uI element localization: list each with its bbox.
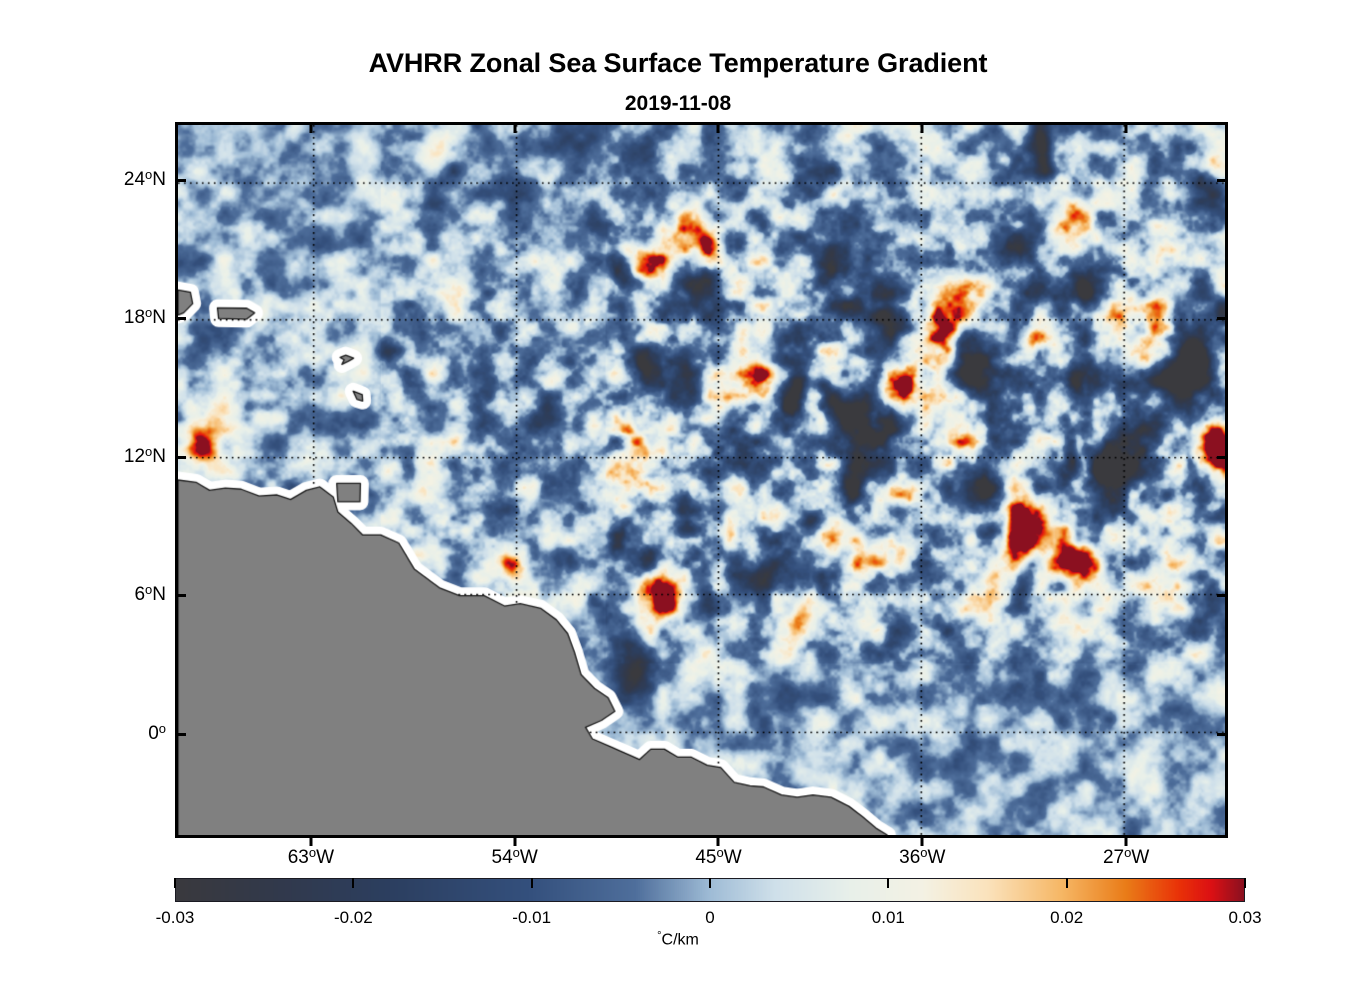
xtick-label: 36oW — [899, 845, 945, 869]
xtick-mark — [921, 835, 924, 846]
colorbar-tick-label: -0.02 — [334, 908, 373, 928]
figure-subtitle: 2019-11-08 — [0, 92, 1356, 116]
colorbar-tick-mark — [887, 878, 889, 888]
xtick-mark — [717, 122, 720, 133]
ytick-mark — [175, 594, 186, 597]
xtick-label: 63oW — [288, 845, 334, 869]
colorbar-tick-label: 0.01 — [872, 908, 905, 928]
ytick-label: 6oN — [134, 582, 166, 606]
xtick-label: 54oW — [492, 845, 538, 869]
page-title: AVHRR Zonal Sea Surface Temperature Grad… — [0, 48, 1356, 79]
ytick-mark — [175, 179, 186, 182]
colorbar-tick-mark — [531, 878, 533, 888]
xtick-mark — [309, 122, 312, 133]
ytick-label: 18oN — [124, 305, 166, 329]
ytick-mark — [175, 317, 186, 320]
colorbar-tick-label: 0.02 — [1050, 908, 1083, 928]
ytick-label: 12oN — [124, 444, 166, 468]
colorbar-tick-mark — [174, 878, 176, 888]
xtick-label: 27oW — [1103, 845, 1149, 869]
colorbar-tick-label: -0.03 — [156, 908, 195, 928]
xtick-mark — [1125, 835, 1128, 846]
xtick-mark — [921, 122, 924, 133]
colorbar-unit-label: °C/km — [0, 930, 1356, 950]
ytick-mark — [1217, 179, 1228, 182]
colorbar-tick-label: -0.01 — [512, 908, 551, 928]
ytick-mark — [1217, 317, 1228, 320]
ytick-mark — [1217, 456, 1228, 459]
colorbar-tick-mark — [1244, 878, 1246, 888]
ytick-mark — [1217, 733, 1228, 736]
xtick-mark — [1125, 122, 1128, 133]
xtick-label: 45oW — [695, 845, 741, 869]
ytick-label: 0o — [148, 721, 166, 745]
xtick-mark — [717, 835, 720, 846]
ytick-label: 24oN — [124, 167, 166, 191]
colorbar-tick-mark — [1066, 878, 1068, 888]
xtick-mark — [513, 122, 516, 133]
xtick-mark — [309, 835, 312, 846]
sst-gradient-heatmap[interactable] — [178, 125, 1225, 835]
map-plot-area[interactable] — [175, 122, 1228, 838]
colorbar-tick-label: 0.03 — [1228, 908, 1261, 928]
xtick-mark — [513, 835, 516, 846]
colorbar-tick-mark — [352, 878, 354, 888]
ytick-mark — [175, 456, 186, 459]
ytick-mark — [175, 733, 186, 736]
ytick-mark — [1217, 594, 1228, 597]
colorbar-tick-mark — [709, 878, 711, 888]
colorbar-tick-label: 0 — [705, 908, 714, 928]
